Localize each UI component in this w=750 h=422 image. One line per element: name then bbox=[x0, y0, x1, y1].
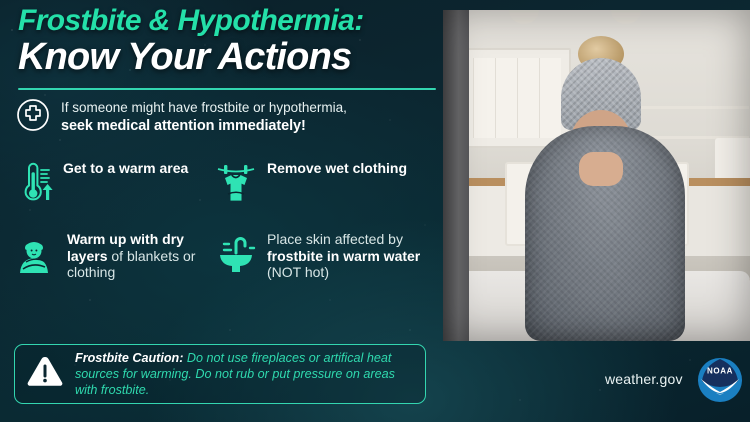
tshirt-clothesline-icon bbox=[214, 160, 258, 209]
medical-text-bold: seek medical attention immediately! bbox=[61, 117, 347, 136]
tip-label-bold: frostbite in warm water bbox=[267, 248, 420, 264]
weather-gov-label: weather.gov bbox=[605, 371, 683, 387]
caution-text: Frostbite Caution: Do not use fireplaces… bbox=[75, 350, 415, 398]
noaa-logo: NOAA bbox=[697, 357, 743, 403]
tip-warm-up-dry-layers: Warm up with dry layers of blankets or c… bbox=[14, 231, 214, 282]
caution-label: Frostbite Caution: bbox=[75, 351, 183, 365]
person-wrapped-in-blanket-icon bbox=[14, 231, 58, 282]
poster-title: Frostbite & Hypothermia: Know Your Actio… bbox=[18, 6, 438, 76]
tip-text: Place skin affected by frostbite in warm… bbox=[267, 231, 440, 281]
tips-row-1: Get to a warm area Remove wet clothing bbox=[14, 160, 444, 209]
thermometer-up-arrow-icon bbox=[14, 160, 54, 209]
photo-vignette bbox=[443, 10, 750, 341]
medical-text-regular: If someone might have frostbite or hypot… bbox=[61, 100, 347, 115]
sink-faucet-icon bbox=[214, 231, 258, 280]
seek-medical-attention-block: If someone might have frostbite or hypot… bbox=[16, 98, 441, 137]
tip-remove-wet-clothing: Remove wet clothing bbox=[214, 160, 440, 209]
tip-label-lead: Place skin affected bbox=[267, 231, 384, 247]
tips-row-2: Warm up with dry layers of blankets or c… bbox=[14, 231, 444, 282]
cold-woman-photo bbox=[443, 10, 750, 341]
tip-label-bold: Get to a warm area bbox=[63, 160, 188, 176]
infographic-poster: Frostbite & Hypothermia: Know Your Actio… bbox=[0, 0, 750, 422]
frostbite-caution-box: Frostbite Caution: Do not use fireplaces… bbox=[14, 344, 426, 404]
title-line-1: Frostbite & Hypothermia: bbox=[18, 6, 438, 37]
medical-attention-text: If someone might have frostbite or hypot… bbox=[61, 99, 347, 136]
tip-get-to-warm-area: Get to a warm area bbox=[14, 160, 214, 209]
tip-place-skin-warm-water: Place skin affected by frostbite in warm… bbox=[214, 231, 440, 282]
tip-label-by: by bbox=[388, 231, 403, 247]
tip-label-regular: (NOT hot) bbox=[267, 264, 329, 280]
tip-text: Remove wet clothing bbox=[267, 160, 407, 177]
warning-triangle-icon bbox=[25, 354, 65, 395]
tip-text: Warm up with dry layers of blankets or c… bbox=[67, 231, 214, 281]
tip-text: Get to a warm area bbox=[63, 160, 188, 177]
title-line-2: Know Your Actions bbox=[18, 38, 438, 77]
title-underline-rule bbox=[18, 88, 436, 90]
medical-cross-circle-icon bbox=[16, 98, 50, 137]
tip-label-bold: Remove wet clothing bbox=[267, 160, 407, 176]
action-tips-grid: Get to a warm area Remove wet clothing bbox=[14, 160, 444, 282]
svg-text:NOAA: NOAA bbox=[707, 367, 733, 376]
